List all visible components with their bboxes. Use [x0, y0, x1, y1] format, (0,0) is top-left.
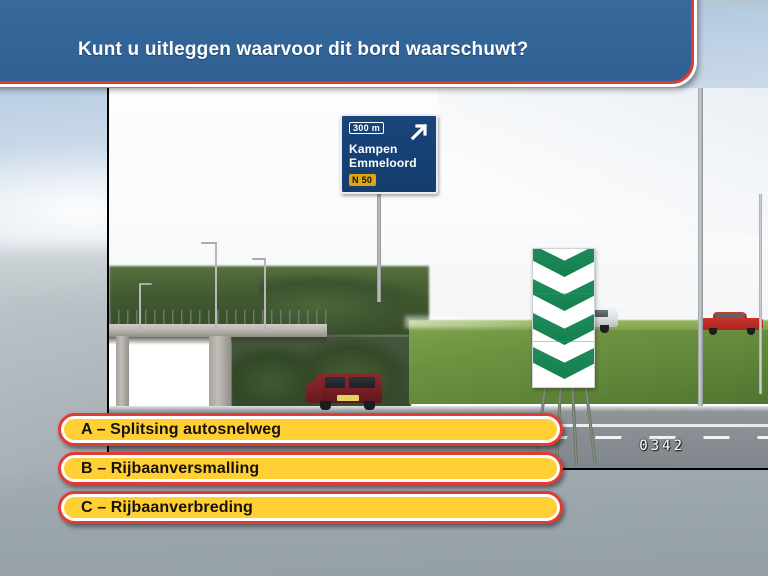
answer-option-b-label: B – Rijbaanversmalling [81, 460, 259, 478]
sign-destination: Emmeloord [349, 156, 417, 170]
photo-bridge-railing [109, 310, 327, 325]
answer-option-a-label: A – Splitsing autosnelweg [81, 421, 281, 439]
red-car [701, 310, 763, 336]
thin-pole [759, 194, 762, 394]
photo-bridge-pier [116, 336, 129, 408]
answer-option-a[interactable]: A – Splitsing autosnelweg [58, 413, 563, 446]
sign-distance-label: 300 m [349, 122, 384, 134]
maroon-van [306, 369, 382, 413]
sign-route-badge: N 50 [349, 174, 376, 186]
diagonal-up-right-arrow-icon [409, 120, 431, 142]
chevron-arrow-icon [532, 345, 595, 379]
photo-sky-tint [439, 88, 768, 238]
blue-direction-sign: 300 m Kampen Emmeloord N 50 [340, 114, 438, 194]
sign-destination: Kampen [349, 142, 398, 156]
photo-counter: 0342 [639, 438, 685, 454]
tall-pole [698, 88, 703, 406]
answer-option-c[interactable]: C – Rijbaanverbreding [58, 491, 563, 524]
question-header-banner: Kunt u uitleggen waarvoor dit bord waars… [0, 0, 694, 84]
green-chevron-warning-sign [532, 248, 595, 388]
answer-option-b[interactable]: B – Rijbaanversmalling [58, 452, 563, 485]
chevron-arrow-icon [532, 311, 595, 345]
question-text: Kunt u uitleggen waarvoor dit bord waars… [78, 39, 528, 61]
chevron-arrow-icon [532, 248, 595, 277]
chevron-arrow-icon [532, 277, 595, 311]
answer-option-c-label: C – Rijbaanverbreding [81, 499, 253, 517]
sign-support-post [377, 192, 381, 302]
photo-bridge-pier [209, 336, 231, 408]
answer-options: A – Splitsing autosnelweg B – Rijbaanver… [58, 413, 563, 530]
quiz-screen: 300 m Kampen Emmeloord N 50 [0, 0, 768, 576]
